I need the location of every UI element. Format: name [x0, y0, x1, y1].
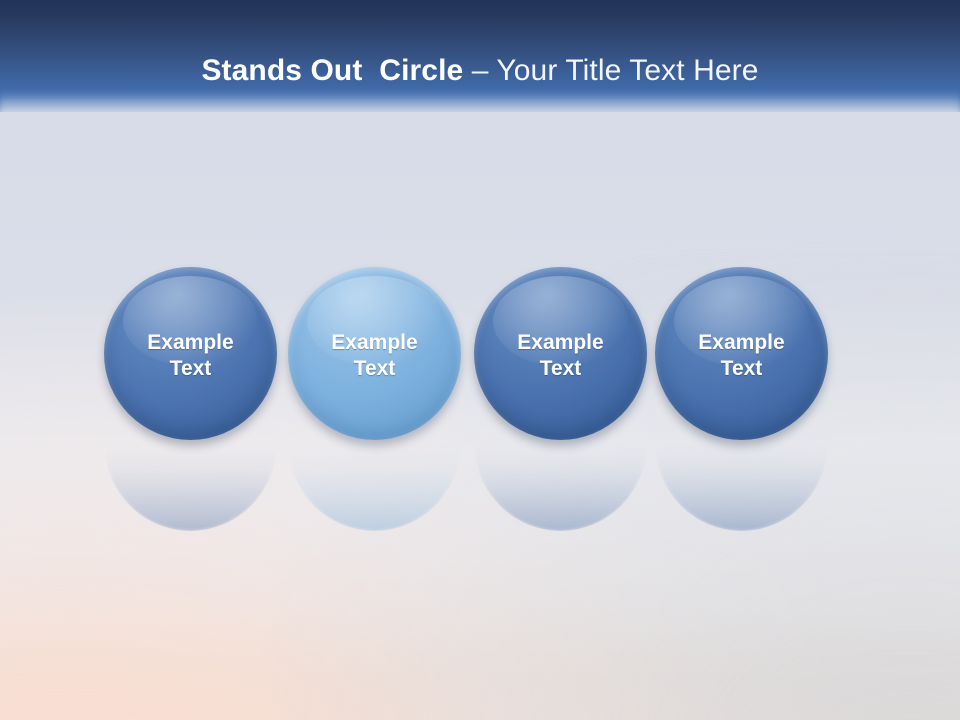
circle-label-4: Example Text [698, 330, 784, 382]
circle-shape-3[interactable]: Example Text [474, 267, 647, 440]
circle-label-2: Example Text [331, 330, 417, 382]
circle-label-1: Example Text [147, 330, 233, 382]
circle-shape-2[interactable]: Example Text [288, 267, 461, 440]
page-title: Stands Out Circle – Your Title Text Here [0, 53, 960, 89]
circle-item-2[interactable]: Example Text [288, 267, 474, 442]
circle-item-1[interactable]: Example Text [104, 267, 290, 442]
circle-label-3: Example Text [517, 330, 603, 382]
page-title-light: – Your Title Text Here [472, 54, 759, 87]
circle-row: Example Text Example Text Example Text E… [104, 267, 856, 442]
slide-canvas: Stands Out Circle – Your Title Text Here… [0, 0, 960, 720]
page-title-bold: Stands Out Circle [201, 54, 471, 87]
title-bar-fade [0, 92, 960, 126]
circle-shape-1[interactable]: Example Text [104, 267, 277, 440]
circle-item-4[interactable]: Example Text [655, 267, 841, 442]
circle-item-3[interactable]: Example Text [474, 267, 660, 442]
circle-shape-4[interactable]: Example Text [655, 267, 828, 440]
